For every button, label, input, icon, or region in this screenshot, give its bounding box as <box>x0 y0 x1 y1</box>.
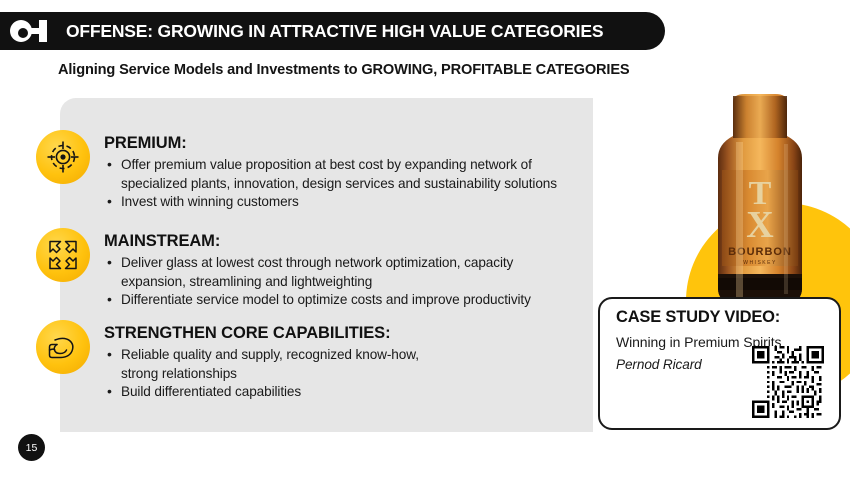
qr-code-icon[interactable] <box>752 346 824 418</box>
section-core-capabilities: STRENGTHEN CORE CAPABILITIES: Reliable q… <box>36 320 441 402</box>
slide-canvas: T X BOURBON WHISKEY OFFENSE: GROWING IN … <box>0 0 850 478</box>
tx-bourbon-whiskey-bottle-image: T X BOURBON WHISKEY <box>700 92 820 307</box>
list-item: Deliver glass at lowest cost through net… <box>104 254 566 291</box>
section-mainstream: MAINSTREAM: Deliver glass at lowest cost… <box>36 228 566 310</box>
oi-logo-icon <box>8 18 54 44</box>
case-study-card[interactable]: CASE STUDY VIDEO: Winning in Premium Spi… <box>598 297 841 430</box>
bullet-list-mainstream: Deliver glass at lowest cost through net… <box>104 254 566 310</box>
section-heading-core: STRENGTHEN CORE CAPABILITIES: <box>104 324 441 343</box>
section-heading-mainstream: MAINSTREAM: <box>104 232 566 251</box>
section-body-mainstream: MAINSTREAM: Deliver glass at lowest cost… <box>104 228 566 310</box>
page-number-badge: 15 <box>18 434 45 461</box>
list-item: Invest with winning customers <box>104 193 591 212</box>
section-premium: PREMIUM: Offer premium value proposition… <box>36 130 591 212</box>
svg-text:X: X <box>746 204 773 246</box>
case-study-title: CASE STUDY VIDEO: <box>616 308 825 327</box>
bullet-list-core: Reliable quality and supply, recognized … <box>104 346 441 402</box>
flexed-bicep-icon <box>36 320 90 374</box>
svg-text:WHISKEY: WHISKEY <box>743 260 777 266</box>
section-heading-premium: PREMIUM: <box>104 134 591 153</box>
slide-subtitle: Aligning Service Models and Investments … <box>58 62 630 78</box>
list-item: Reliable quality and supply, recognized … <box>104 346 441 383</box>
page-title: OFFENSE: GROWING IN ATTRACTIVE HIGH VALU… <box>66 21 603 42</box>
list-item: Differentiate service model to optimize … <box>104 291 566 310</box>
slide-title-bar: OFFENSE: GROWING IN ATTRACTIVE HIGH VALU… <box>0 12 665 50</box>
section-body-core: STRENGTHEN CORE CAPABILITIES: Reliable q… <box>104 320 441 402</box>
list-item: Offer premium value proposition at best … <box>104 156 591 193</box>
target-crosshair-icon <box>36 130 90 184</box>
four-arrows-expand-icon <box>36 228 90 282</box>
bullet-list-premium: Offer premium value proposition at best … <box>104 156 591 212</box>
section-body-premium: PREMIUM: Offer premium value proposition… <box>104 130 591 212</box>
list-item: Build differentiated capabilities <box>104 383 441 402</box>
